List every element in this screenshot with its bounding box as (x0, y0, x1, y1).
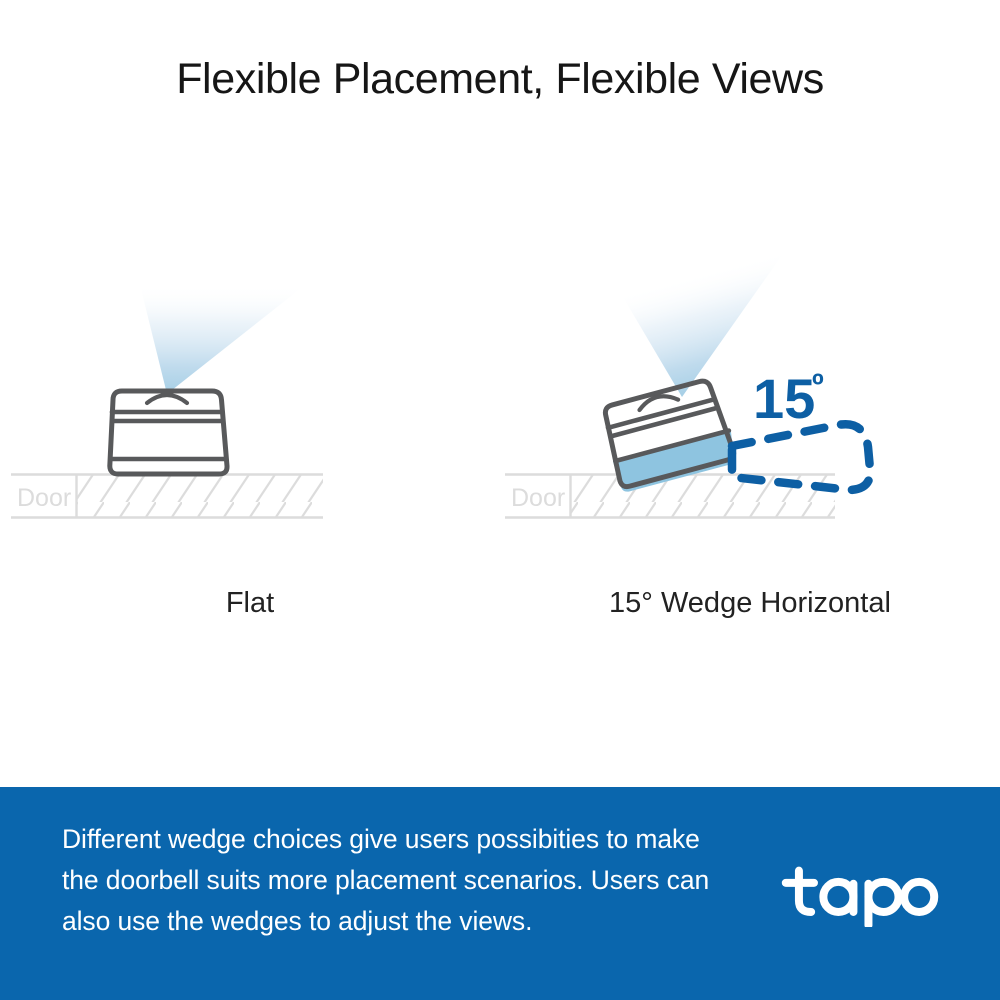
page-root: Flexible Placement, Flexible Views (0, 0, 1000, 1000)
door-label: Door (17, 484, 71, 512)
diagram-wedge-15-graphic: Door (500, 150, 1000, 650)
page-title: Flexible Placement, Flexible Views (0, 56, 1000, 103)
banner-description: Different wedge choices give users possi… (62, 819, 722, 942)
diagram-flat: Door Flat (0, 150, 500, 650)
angle-unit: º (812, 367, 824, 403)
bottom-banner: Different wedge choices give users possi… (0, 787, 1000, 1000)
door-surface: Door (11, 474, 323, 518)
angle-label: 15 º (753, 367, 824, 430)
diagram-wedge-15: Door (500, 150, 1000, 650)
tapo-logo (780, 865, 940, 927)
field-of-view-cone (140, 285, 305, 394)
diagram-area: Door Flat (0, 150, 1000, 650)
diagram-caption-wedge: 15° Wedge Horizontal (500, 587, 1000, 620)
door-label: Door (511, 484, 565, 512)
diagram-flat-graphic: Door (0, 150, 500, 650)
diagram-caption-flat: Flat (0, 587, 500, 620)
doorbell-device-flat (110, 391, 227, 474)
angle-value: 15 (753, 367, 815, 430)
